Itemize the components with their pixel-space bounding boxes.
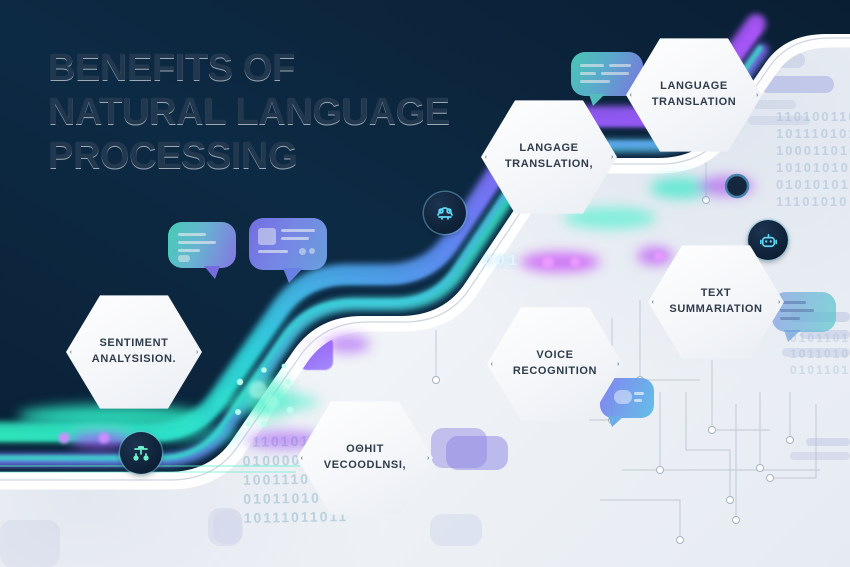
bubble-purple-left xyxy=(249,218,327,270)
bubble-teal-left xyxy=(168,222,236,268)
robot-icon xyxy=(757,229,780,252)
binary-overlay-code: 001 xyxy=(484,252,521,269)
hex-label: LANGAGE TRANSLATION, xyxy=(499,141,599,173)
page-title: BENEFITS OF NATURAL LANGUAGE PROCESSING xyxy=(48,46,508,178)
hex-label: LANGUAGE TRANSLATION xyxy=(646,79,743,111)
hex-label: OΘHIT VECOODLNSI, xyxy=(318,442,412,474)
network-icon xyxy=(129,441,153,465)
ai-chip-badge[interactable] xyxy=(424,192,466,234)
bubble-right xyxy=(772,292,836,332)
network-node-badge[interactable] xyxy=(120,432,162,474)
hex-label: TEXT SUMMARIATION xyxy=(663,286,768,318)
chip-icon xyxy=(433,201,457,225)
infographic-poster: 00101010101001 101101100101101 100101011… xyxy=(0,0,850,567)
hex-label: VOICE RECOGNITION xyxy=(507,348,603,380)
hex-label: SENTIMENT ANALYSISION. xyxy=(86,336,182,368)
